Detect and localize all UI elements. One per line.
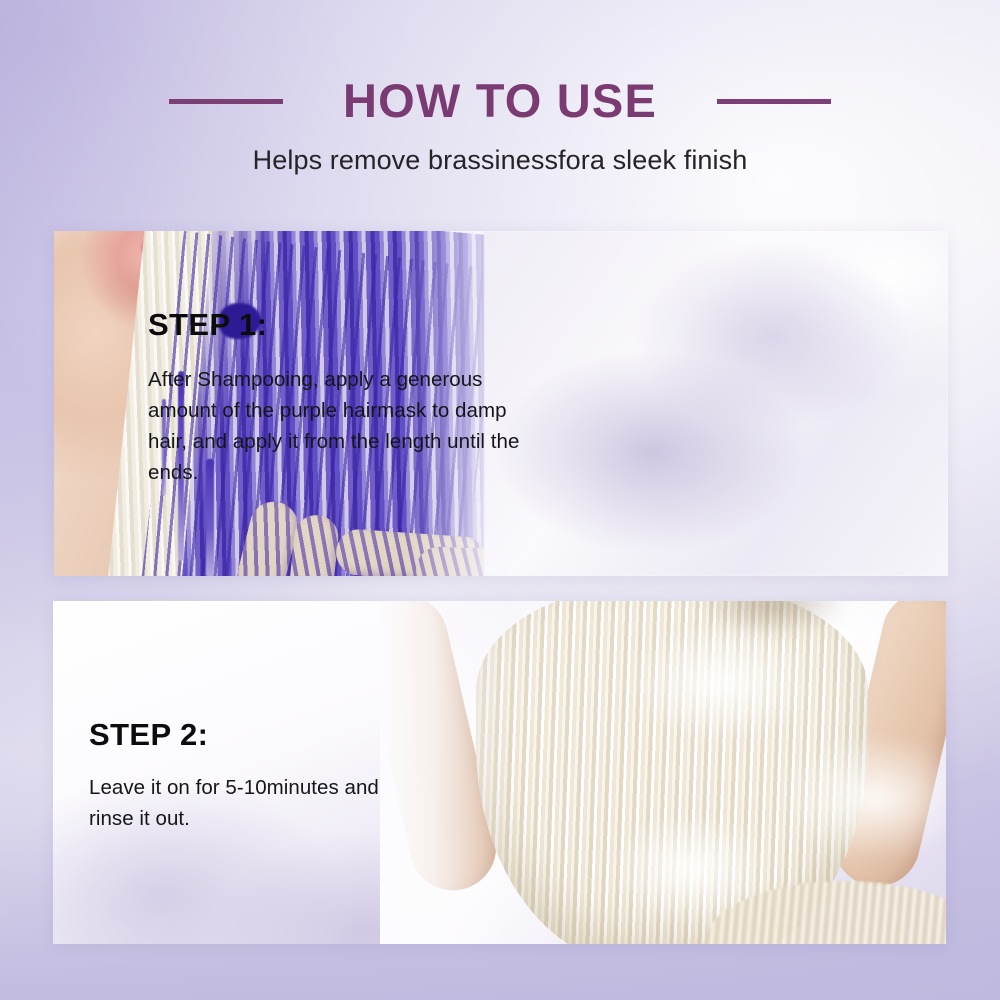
page-title: HOW TO USE [343, 74, 657, 128]
step-2-body: STEP 2: Leave it on for 5-10minutes and … [89, 719, 419, 834]
page-subtitle: Helps remove brassinessfora sleek finish [0, 145, 1000, 176]
step-card-1: STEP 1: After Shampooing, apply a genero… [54, 231, 948, 576]
step-1-label: STEP 1: [148, 309, 548, 340]
step-card-2: STEP 2: Leave it on for 5-10minutes and … [53, 601, 946, 944]
step-2-description: Leave it on for 5-10minutes and rinse it… [89, 772, 419, 834]
step-1-text-panel [484, 231, 948, 576]
blonde-hair [476, 601, 868, 944]
step-2-label: STEP 2: [89, 719, 419, 750]
header: HOW TO USE Helps remove brassinessfora s… [0, 0, 1000, 200]
title-row: HOW TO USE [0, 74, 1000, 128]
step-1-description: After Shampooing, apply a generous amoun… [148, 364, 548, 489]
hair-highlight [626, 623, 816, 743]
step-1-body: STEP 1: After Shampooing, apply a genero… [148, 309, 548, 489]
step-2-photo [380, 601, 946, 944]
text-panel-background [484, 231, 948, 576]
title-rule-left-icon [169, 99, 283, 104]
hair-highlight [776, 733, 946, 863]
title-rule-right-icon [717, 99, 831, 104]
